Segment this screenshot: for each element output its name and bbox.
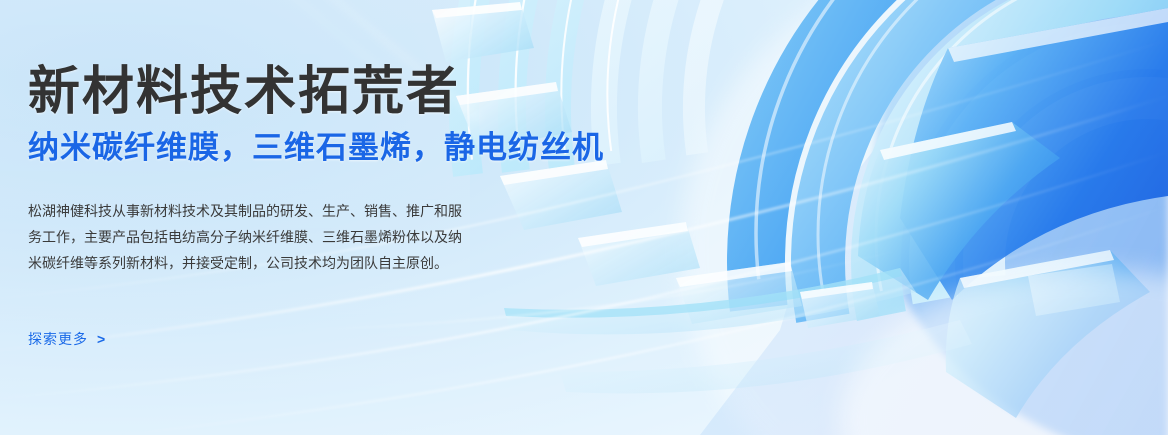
page-subtitle: 纳米碳纤维膜，三维石墨烯，静电纺丝机	[28, 128, 604, 168]
description-line: 务工作，主要产品包括电纺高分子纳米纤维膜、三维石墨烯粉体以及纳	[28, 224, 688, 250]
chevron-right-icon: >	[97, 329, 106, 349]
hero-content: 新材料技术拓荒者 纳米碳纤维膜，三维石墨烯，静电纺丝机 松湖神健科技从事新材料技…	[28, 0, 728, 435]
hero-banner: 新材料技术拓荒者 纳米碳纤维膜，三维石墨烯，静电纺丝机 松湖神健科技从事新材料技…	[0, 0, 1168, 435]
description-block: 松湖神健科技从事新材料技术及其制品的研发、生产、销售、推广和服 务工作，主要产品…	[28, 198, 688, 276]
explore-more-label: 探索更多	[28, 329, 88, 349]
description-line: 米碳纤维等系列新材料，并接受定制，公司技术均为团队自主原创。	[28, 250, 688, 276]
page-title: 新材料技术拓荒者	[28, 61, 460, 123]
description-line: 松湖神健科技从事新材料技术及其制品的研发、生产、销售、推广和服	[28, 198, 688, 224]
explore-more-link[interactable]: 探索更多 >	[28, 329, 106, 349]
